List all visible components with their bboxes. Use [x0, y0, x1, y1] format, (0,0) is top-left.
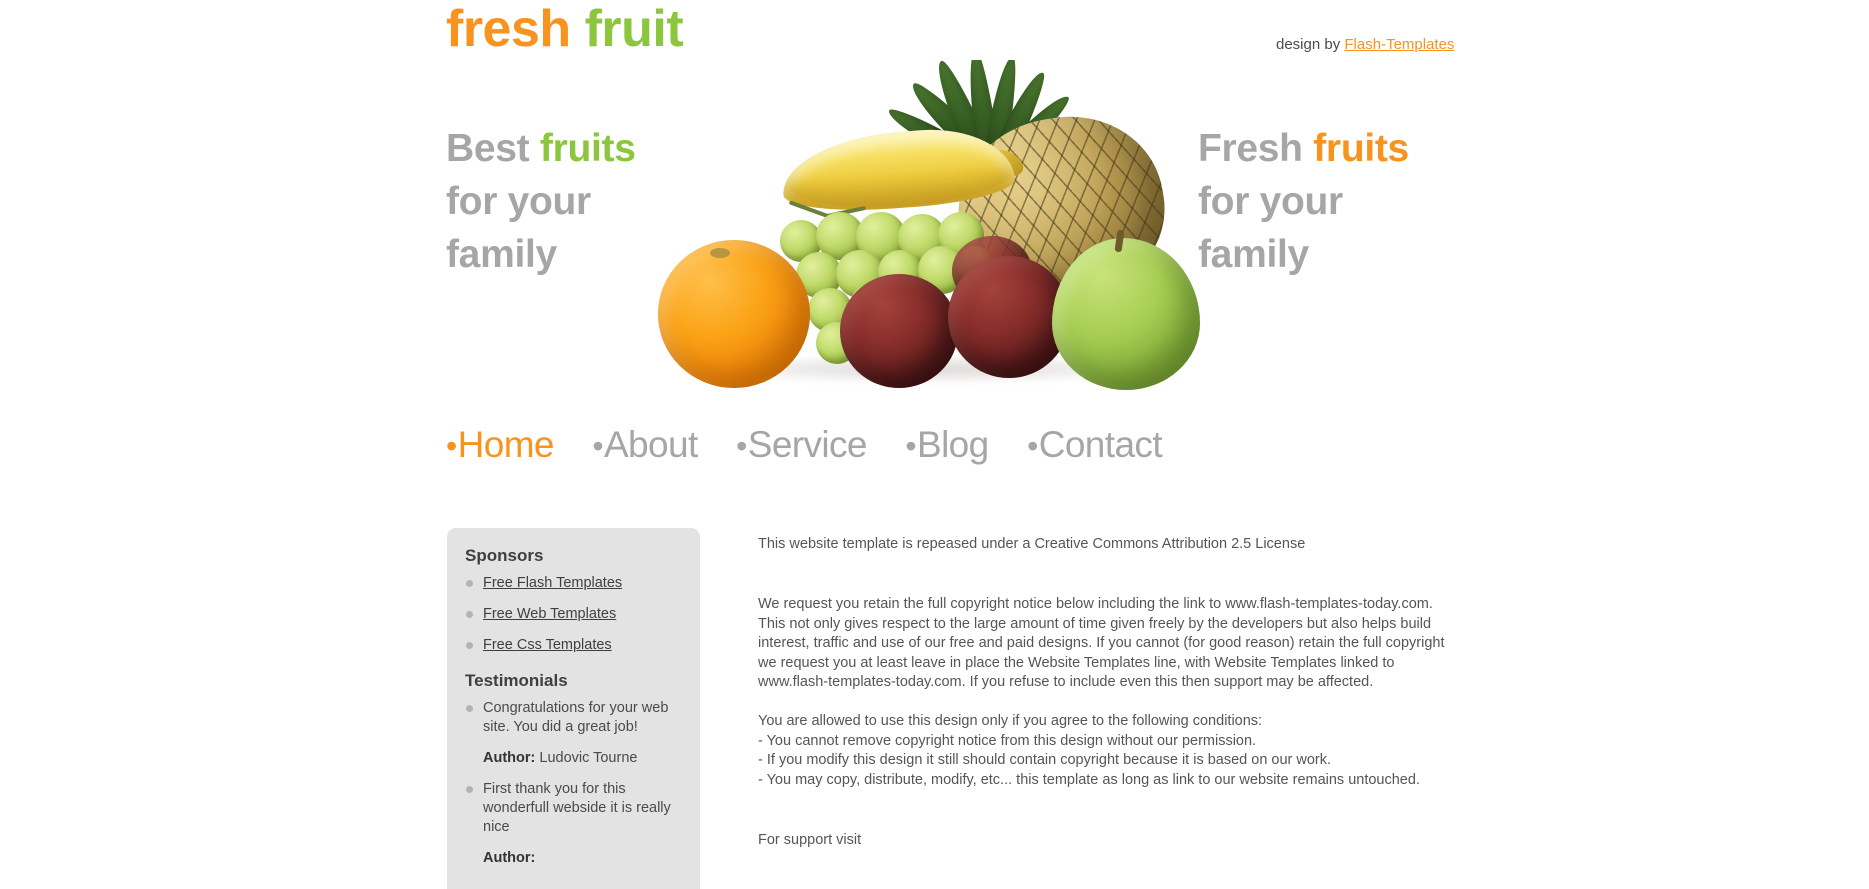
- hero-tagline-left: Best fruits for your family: [446, 122, 636, 281]
- fruit-arrangement-photo: [640, 60, 1220, 405]
- nav-label: Contact: [1039, 424, 1162, 465]
- hero-left-line1-accent: fruits: [540, 127, 636, 170]
- nav-label: Blog: [917, 424, 989, 465]
- sidebar-heading-sponsors: Sponsors: [465, 546, 682, 566]
- condition-item-1: - You cannot remove copyright notice fro…: [758, 732, 1448, 751]
- list-item: First thank you for this wonderfull webs…: [465, 780, 682, 837]
- nav-bullet-icon: •: [1027, 428, 1038, 464]
- hero-right-line3: family: [1198, 233, 1309, 276]
- nav-label: Home: [458, 424, 554, 465]
- hero-left-line3: family: [446, 233, 557, 276]
- nav-bullet-icon: •: [736, 428, 747, 464]
- sidebar-panel: Sponsors Free Flash Templates Free Web T…: [447, 528, 700, 889]
- conditions-intro: You are allowed to use this design only …: [758, 712, 1448, 731]
- page-root: fresh fruit design by Flash-Templates Be…: [0, 0, 1869, 889]
- green-pear-icon: [1052, 238, 1200, 390]
- nav-item-home[interactable]: •Home: [446, 418, 554, 473]
- plum-icon: [840, 274, 958, 388]
- list-item: Free Web Templates: [465, 605, 682, 624]
- list-item: Free Css Templates: [465, 636, 682, 655]
- hero-tagline-right: Fresh fruits for your family: [1198, 122, 1409, 281]
- hero-right-line1-plain: Fresh: [1198, 127, 1303, 170]
- hero-right-line1-accent: fruits: [1313, 127, 1409, 170]
- condition-item-3: - You may copy, distribute, modify, etc.…: [758, 771, 1448, 790]
- nav-label: About: [604, 424, 698, 465]
- sponsors-list: Free Flash Templates Free Web Templates …: [465, 574, 682, 655]
- testimonial-author-name: Ludovic Tourne: [539, 750, 637, 766]
- sponsor-link-free-flash-templates[interactable]: Free Flash Templates: [483, 575, 622, 591]
- testimonial-author: Author:: [465, 849, 682, 868]
- design-credit: design by Flash-Templates: [1276, 36, 1454, 53]
- nav-bullet-icon: •: [592, 428, 603, 464]
- orange-icon: [658, 240, 810, 388]
- condition-item-2: - If you modify this design it still sho…: [758, 751, 1448, 770]
- support-line: For support visit: [758, 831, 1448, 850]
- testimonial-author: Author: Ludovic Tourne: [465, 749, 682, 768]
- nav-label: Service: [748, 424, 867, 465]
- copyright-request-paragraph: We request you retain the full copyright…: [758, 595, 1448, 692]
- nav-item-contact[interactable]: •Contact: [1027, 418, 1162, 473]
- testimonial-author-label: Author:: [483, 750, 535, 766]
- list-item: Congratulations for your web site. You d…: [465, 699, 682, 737]
- sponsor-link-free-css-templates[interactable]: Free Css Templates: [483, 637, 612, 653]
- hero-right-line2: for your: [1198, 180, 1343, 223]
- logo-word-fresh: fresh: [446, 0, 571, 58]
- main-content: This website template is repeased under …: [758, 535, 1448, 870]
- license-line: This website template is repeased under …: [758, 535, 1448, 554]
- nav-bullet-icon: •: [905, 428, 916, 464]
- hero-left-line2: for your: [446, 180, 591, 223]
- nav-bullet-icon: •: [446, 428, 457, 464]
- testimonials-list: First thank you for this wonderfull webs…: [465, 780, 682, 837]
- spacer: [758, 574, 1448, 595]
- hero-left-line1-plain: Best: [446, 127, 529, 170]
- testimonials-list: Congratulations for your web site. You d…: [465, 699, 682, 737]
- sponsor-link-free-web-templates[interactable]: Free Web Templates: [483, 606, 616, 622]
- main-navigation: •Home •About •Service •Blog •Contact: [446, 418, 1456, 473]
- hero-section: Best fruits for your family: [446, 55, 1456, 405]
- spacer: [758, 810, 1448, 831]
- nav-item-service[interactable]: •Service: [736, 418, 867, 473]
- nav-item-blog[interactable]: •Blog: [905, 418, 988, 473]
- site-logo[interactable]: fresh fruit: [446, 0, 683, 58]
- logo-word-fruit: fruit: [585, 0, 684, 58]
- design-credit-prefix: design by: [1276, 36, 1340, 53]
- testimonial-author-label: Author:: [483, 850, 535, 866]
- sidebar-heading-testimonials: Testimonials: [465, 671, 682, 691]
- list-item: Free Flash Templates: [465, 574, 682, 593]
- nav-item-about[interactable]: •About: [592, 418, 697, 473]
- design-credit-link[interactable]: Flash-Templates: [1344, 36, 1454, 53]
